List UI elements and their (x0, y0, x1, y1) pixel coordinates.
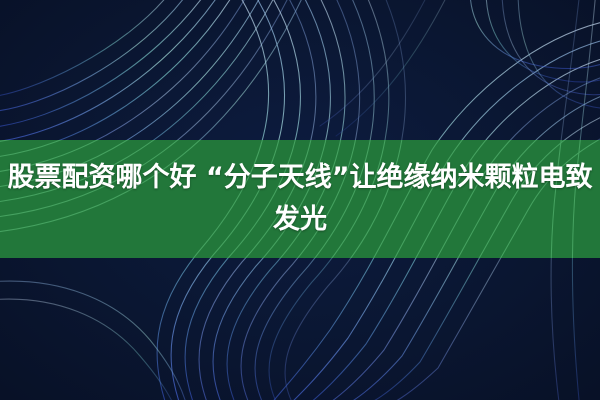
headline-line-2: 发光 (273, 199, 327, 241)
headline-text: 股票配资哪个好 “分子天线”让绝缘纳米颗粒电致 发光 (0, 140, 600, 258)
headline-line-1: 股票配资哪个好 “分子天线”让绝缘纳米颗粒电致 (8, 157, 593, 199)
banner-image: 股票配资哪个好 “分子天线”让绝缘纳米颗粒电致 发光 (0, 0, 600, 400)
